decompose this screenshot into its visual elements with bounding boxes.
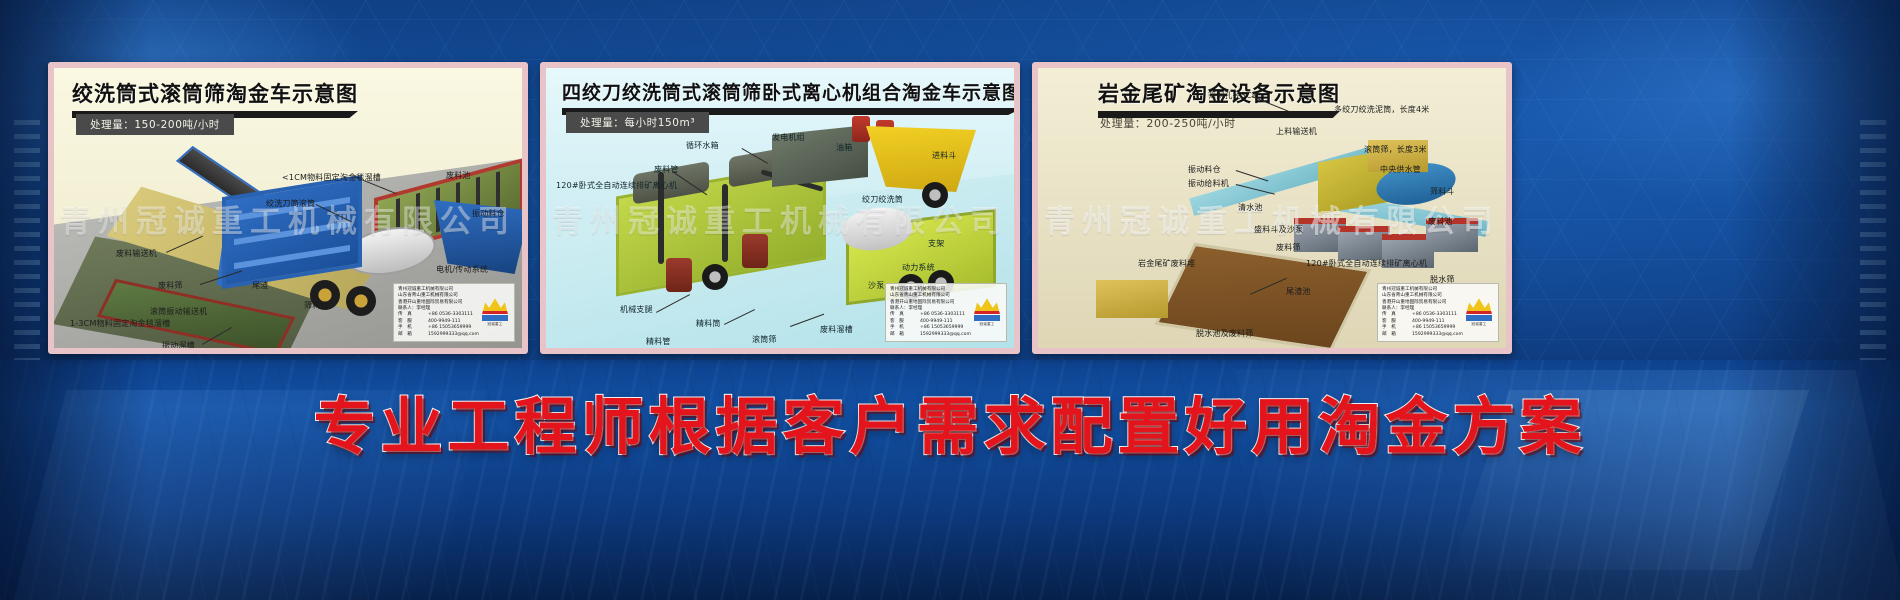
panel-3-capacity-badge: 处理量：200-250吨/小时: [1100, 112, 1236, 134]
callout-label: 滚筒筛: [752, 334, 777, 345]
callout-label: 上料输送机: [1276, 126, 1317, 137]
callout-label: 清水池: [1238, 202, 1263, 213]
mobile-value: +86 15053659999: [920, 325, 963, 330]
diagram-panel-row: 青州冠诚重工机械有限公司 绞洗筒式滚筒筛淘金车示意图 处理量：150-200吨/…: [0, 0, 1900, 600]
service-value: 400-9949-111: [428, 319, 461, 324]
panel-3-contact-card: 青州冠诚重工机械有限公司 山东省青山重工机械有限公司 香港开山重地国际贸易有限公…: [1377, 283, 1499, 342]
callout-label: 岩金尾矿废料堆: [1138, 258, 1195, 269]
badge-caption: 冠诚重工: [1471, 322, 1486, 327]
service-value: 400-9949-111: [1412, 319, 1445, 324]
wheel-loader-shape: [1096, 280, 1168, 318]
mobile-value: +86 15053659999: [428, 325, 471, 330]
callout-label: 多绞刀绞洗泥筒，长度4米: [1334, 104, 1430, 115]
contact-lines: 青州冠诚重工机械有限公司 山东省青山重工机械有限公司 香港开山重地国际贸易有限公…: [398, 287, 477, 338]
callout-label: 滚筒振动输送机: [150, 306, 207, 317]
panel-1-capacity-badge: 处理量：150-200吨/小时: [76, 114, 234, 135]
callout-label: 废料筛: [158, 280, 183, 291]
callout-label: 中央供水管: [1380, 164, 1421, 175]
callout-label: 精料筒: [696, 318, 721, 329]
callout-label: 尾渣: [252, 280, 268, 291]
callout-label: <1CM物料固定淘金毯溜槽: [282, 172, 381, 183]
email-label: 邮 箱: [890, 332, 920, 338]
callout-label: 绞洗刀筒滚筒: [266, 198, 315, 209]
callout-label: 绞刀绞洗筒: [862, 194, 903, 205]
callout-label: 筛料斗: [1430, 186, 1455, 197]
panel-2-capacity-badge: 处理量：每小时150m³: [566, 112, 709, 133]
callout-label: 废料池: [1428, 216, 1453, 227]
crown-logo-icon: 冠诚重工: [972, 287, 1002, 338]
panel-2-contact-card: 青州冠诚重工机械有限公司 山东省青山重工机械有限公司 香港开山重地国际贸易有限公…: [885, 283, 1007, 342]
callout-label: 废料溜槽: [820, 324, 853, 335]
contact-lines: 青州冠诚重工机械有限公司 山东省青山重工机械有限公司 香港开山重地国际贸易有限公…: [1382, 287, 1461, 338]
callout-label: 滚筒筛，长度3米: [1364, 144, 1427, 155]
panel-2-title-block: 四绞刀绞洗筒式滚筒筛卧式离心机组合淘金车示意图: [562, 78, 1020, 115]
callout-label: 废料输送机: [116, 248, 157, 259]
callout-label: 电机/传动系统: [436, 264, 488, 275]
contact-lines: 青州冠诚重工机械有限公司 山东省青山重工机械有限公司 香港开山重地国际贸易有限公…: [890, 287, 969, 338]
callout-label: 振动料仓: [472, 208, 505, 219]
callout-label: 废料管: [654, 164, 679, 175]
callout-label: 盛料斗及沙泵: [1254, 224, 1303, 235]
callout-label: 振动料仓: [1188, 164, 1221, 175]
callout-label: 120#卧式全自动连续排矿离心机: [1306, 258, 1427, 269]
callout-label: 动力系统: [902, 262, 935, 273]
callout-label: 循环水箱: [686, 140, 719, 151]
callout-label: 1-3CM物料固定淘金毯溜槽: [70, 318, 170, 329]
callout-label: 筛网孔径3CM: [1208, 90, 1259, 101]
email-value: 1592999333@qq.com: [920, 332, 971, 337]
mobile-value: +86 15053659999: [1412, 325, 1455, 330]
callout-label: 油箱: [836, 142, 852, 153]
fax-value: +86 0536-3303111: [1412, 312, 1457, 317]
callout-label: 筛料筒: [304, 300, 329, 311]
fax-value: +86 0536-3303111: [920, 312, 965, 317]
email-value: 1592999333@qq.com: [1412, 332, 1463, 337]
callout-label: 支架: [928, 238, 944, 249]
diagram-panel-3[interactable]: 青州冠诚重工机械有限公司 岩金尾矿淘金设备示意图 处理量：200-250吨/小时…: [1032, 62, 1512, 354]
callout-label: 脱水池及废料筛: [1196, 328, 1253, 339]
callout-label: 120#卧式全自动连续排矿离心机: [556, 180, 677, 191]
callout-label: 进料斗: [932, 150, 957, 161]
panel-2-title: 四绞刀绞洗筒式滚筒筛卧式离心机组合淘金车示意图: [562, 78, 1020, 105]
callout-label: 废料池: [446, 170, 471, 181]
panel-1-title-block: 绞洗筒式滚筒筛淘金车示意图: [72, 78, 358, 118]
email-label: 邮 箱: [398, 332, 428, 338]
email-value: 1592999333@qq.com: [428, 332, 479, 337]
email-label: 邮 箱: [1382, 332, 1412, 338]
callout-label: 振动溜槽: [162, 340, 195, 351]
callout-label: 沙泵: [868, 280, 884, 291]
fax-value: +86 0536-3303111: [428, 312, 473, 317]
callout-label: 尾渣池: [1286, 286, 1311, 297]
badge-caption: 冠诚重工: [487, 322, 502, 327]
callout-label: 机械支腿: [620, 304, 653, 315]
panel-1-title: 绞洗筒式滚筒筛淘金车示意图: [72, 78, 358, 108]
service-value: 400-9949-111: [920, 319, 953, 324]
diagram-panel-1[interactable]: 青州冠诚重工机械有限公司 绞洗筒式滚筒筛淘金车示意图 处理量：150-200吨/…: [48, 62, 528, 354]
callout-label: 废料筛: [1276, 242, 1301, 253]
panel-1-contact-card: 青州冠诚重工机械有限公司 山东省青山重工机械有限公司 香港开山重地国际贸易有限公…: [393, 283, 515, 342]
poster-headline: 专业工程师根据客户需求配置好用淘金方案: [0, 376, 1900, 466]
badge-caption: 冠诚重工: [979, 322, 994, 327]
diagram-panel-2[interactable]: 青州冠诚重工机械有限公司 四绞刀绞洗筒式滚筒筛卧式离心机组合淘金车示意图 处理量…: [540, 62, 1020, 354]
crown-logo-icon: 冠诚重工: [1464, 287, 1494, 338]
callout-label: 精料管: [646, 336, 671, 347]
slurry-pipe: [722, 184, 728, 262]
callout-label: 发电机组: [772, 132, 805, 143]
crown-logo-icon: 冠诚重工: [480, 287, 510, 338]
callout-label: 振动给料机: [1188, 178, 1229, 189]
